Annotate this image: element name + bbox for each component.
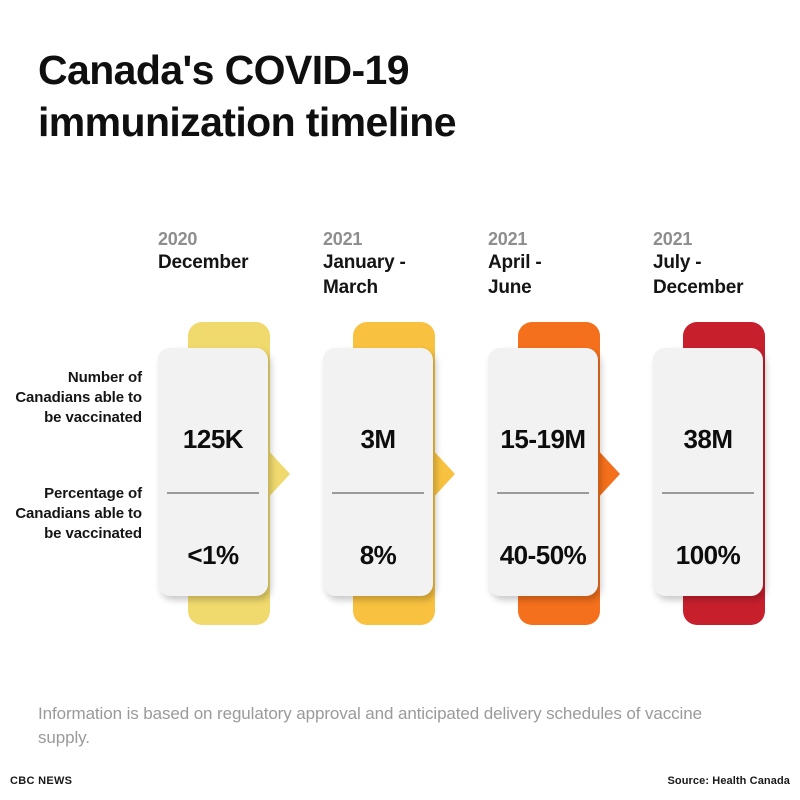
stage-card-1: 125K <1% <box>158 348 268 596</box>
page-title: Canada's COVID-19 immunization timeline <box>38 44 658 149</box>
brand-label: CBC NEWS <box>10 775 72 787</box>
stage-number-4: 38M <box>653 424 763 455</box>
column-period-1: December <box>158 251 308 276</box>
row-label-number: Number of Canadians able to be vaccinate… <box>8 368 142 428</box>
stage-arrow-3 <box>596 448 620 500</box>
stage-percentage-4: 100% <box>653 540 763 571</box>
column-year-3: 2021 <box>488 228 638 251</box>
card-divider-1 <box>167 492 259 494</box>
column-header-1: 2020 December <box>158 228 308 276</box>
column-year-4: 2021 <box>653 228 800 251</box>
column-period-4: July - December <box>653 251 800 300</box>
stage-card-2: 3M 8% <box>323 348 433 596</box>
stage-card-4: 38M 100% <box>653 348 763 596</box>
stage-arrow-2 <box>431 448 455 500</box>
source-label: Source: Health Canada <box>667 775 790 787</box>
column-period-3: April - June <box>488 251 638 300</box>
column-header-2: 2021 January - March <box>323 228 473 300</box>
stage-percentage-1: <1% <box>158 540 268 571</box>
column-header-3: 2021 April - June <box>488 228 638 300</box>
footnote: Information is based on regulatory appro… <box>38 702 754 750</box>
column-year-1: 2020 <box>158 228 308 251</box>
column-period-2: January - March <box>323 251 473 300</box>
card-divider-2 <box>332 492 424 494</box>
stage-percentage-3: 40-50% <box>488 540 598 571</box>
column-header-4: 2021 July - December <box>653 228 800 300</box>
infographic-canvas: Canada's COVID-19 immunization timeline … <box>0 0 800 800</box>
stage-number-3: 15-19M <box>488 424 598 455</box>
card-divider-3 <box>497 492 589 494</box>
title-line-2: immunization timeline <box>38 96 658 148</box>
column-headers: 2020 December 2021 January - March 2021 … <box>0 228 800 308</box>
column-year-2: 2021 <box>323 228 473 251</box>
stage-number-2: 3M <box>323 424 433 455</box>
stage-percentage-2: 8% <box>323 540 433 571</box>
row-label-percentage: Percentage of Canadians able to be vacci… <box>8 484 142 544</box>
stage-number-1: 125K <box>158 424 268 455</box>
title-line-1: Canada's COVID-19 <box>38 44 658 96</box>
bottom-divider <box>0 762 800 763</box>
stage-arrow-1 <box>266 448 290 500</box>
card-divider-4 <box>662 492 754 494</box>
stage-card-3: 15-19M 40-50% <box>488 348 598 596</box>
